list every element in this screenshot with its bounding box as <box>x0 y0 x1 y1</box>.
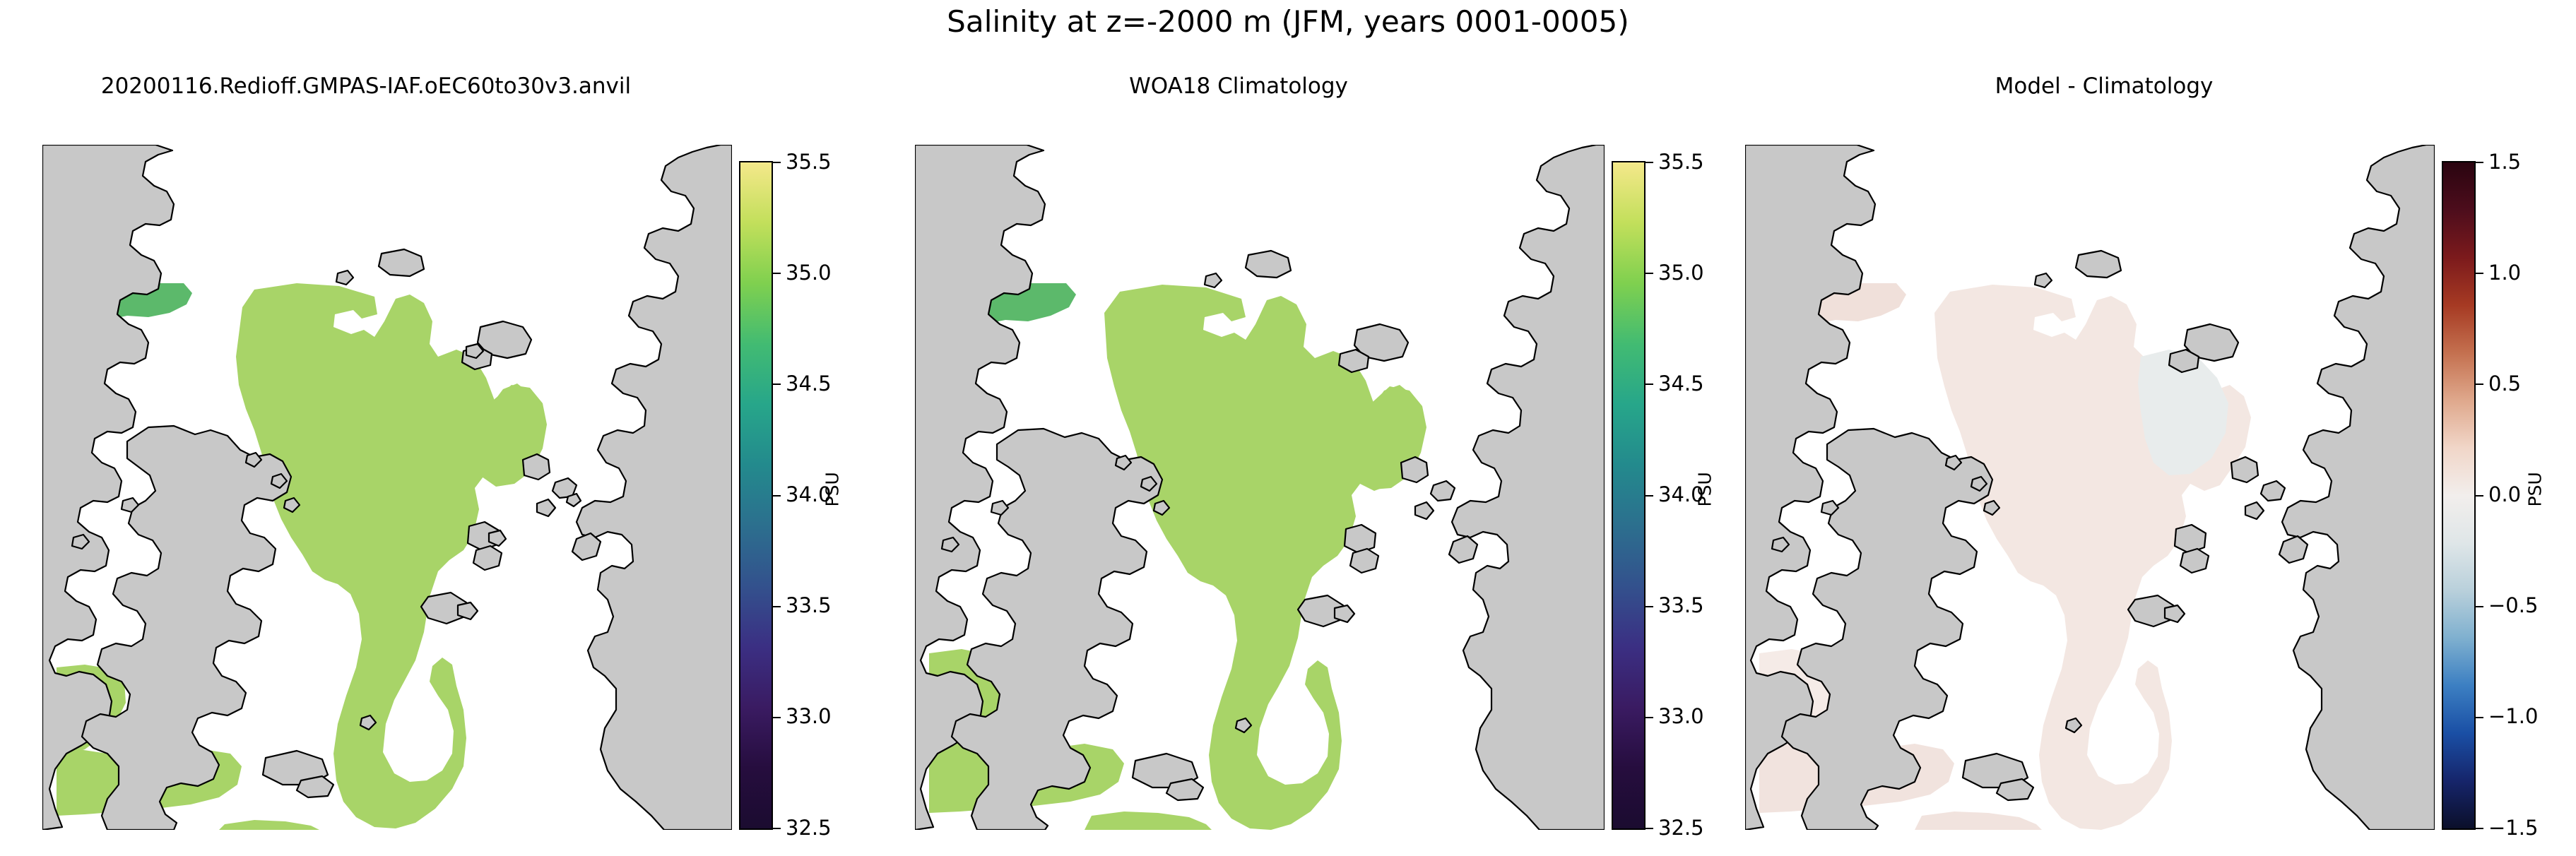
colorbar-tick-mark <box>1646 717 1653 718</box>
colorbar-tick-mark <box>1646 495 1653 497</box>
land-island-center-2 <box>2180 549 2209 573</box>
colorbar-tick-label: 33.0 <box>1658 706 1704 727</box>
colorbar-gradient-difference[interactable] <box>2442 161 2476 830</box>
colorbar-tick-label: 33.0 <box>786 706 832 727</box>
colorbar-tick-mark <box>773 495 781 497</box>
colorbar-gradient-climatology[interactable] <box>1612 161 1646 830</box>
map-svg-difference <box>1745 145 2435 830</box>
figure-suptitle: Salinity at z=-2000 m (JFM, years 0001-0… <box>0 4 2576 39</box>
land-island-east-1 <box>1401 457 1428 482</box>
colorbar-tick-mark <box>773 384 781 385</box>
colorbar-tick-label: 35.5 <box>786 152 832 172</box>
colorbar-tick-mark <box>2476 606 2483 607</box>
colorbar-difference: 1.51.00.50.0−0.5−1.0−1.5 PSU <box>2442 161 2560 830</box>
colorbar-tick-label: 35.0 <box>1658 263 1704 283</box>
colorbar-climatology: 35.535.034.534.033.533.032.5 PSU <box>1612 161 1730 830</box>
colorbar-tick-label: 1.5 <box>2488 152 2521 172</box>
land-island-center-2 <box>473 546 502 570</box>
colorbar-ticks-climatology: 35.535.034.534.033.533.032.5 <box>1646 161 1730 830</box>
map-svg-climatology <box>915 145 1605 830</box>
colorbar-tick-label: 35.0 <box>786 263 832 283</box>
colorbar-tick-mark <box>1646 162 1653 163</box>
colorbar-tick-mark <box>2476 162 2483 163</box>
colorbar-tick-mark <box>1646 828 1653 829</box>
colorbar-tick-label: 0.5 <box>2488 374 2521 394</box>
colorbar-tick-label: 34.5 <box>1658 374 1704 394</box>
colorbar-label-model: PSU <box>822 479 843 507</box>
colorbar-gradient-model[interactable] <box>739 161 773 830</box>
colorbar-tick-mark <box>773 273 781 274</box>
panel-title-climatology: WOA18 Climatology <box>873 73 1605 99</box>
colorbar-tick-mark <box>773 606 781 607</box>
panel-title-difference: Model - Climatology <box>1738 73 2470 99</box>
colorbar-tick-label: −0.5 <box>2488 595 2538 616</box>
colorbar-tick-label: 35.5 <box>1658 152 1704 172</box>
colorbar-ticks-model: 35.535.034.534.033.533.032.5 <box>773 161 858 830</box>
figure-canvas: Salinity at z=-2000 m (JFM, years 0001-0… <box>0 0 2576 856</box>
colorbar-tick-label: 33.5 <box>1658 595 1704 616</box>
colorbar-tick-label: 32.5 <box>786 818 832 838</box>
colorbar-tick-mark <box>2476 717 2483 718</box>
colorbar-tick-label: 1.0 <box>2488 263 2521 283</box>
colorbar-ticks-difference: 1.51.00.50.0−0.5−1.0−1.5 <box>2476 161 2560 830</box>
map-svg-model <box>42 145 732 830</box>
land-island-center-2 <box>1350 549 1378 573</box>
colorbar-tick-mark <box>2476 828 2483 829</box>
panel-title-model: 20200116.Redioff.GMPAS-IAF.oEC60to30v3.a… <box>0 73 732 99</box>
colorbar-tick-mark <box>1646 384 1653 385</box>
colorbar-tick-label: 0.0 <box>2488 485 2521 505</box>
map-climatology[interactable] <box>915 145 1605 830</box>
colorbar-tick-mark <box>2476 273 2483 274</box>
colorbar-label-climatology: PSU <box>1695 479 1715 507</box>
colorbar-tick-mark <box>1646 606 1653 607</box>
colorbar-tick-label: 34.5 <box>786 374 832 394</box>
land-island-east-1 <box>523 454 550 480</box>
colorbar-tick-mark <box>773 828 781 829</box>
colorbar-tick-label: 32.5 <box>1658 818 1704 838</box>
land-island-east-1 <box>2231 457 2258 482</box>
colorbar-tick-mark <box>1646 273 1653 274</box>
colorbar-tick-mark <box>2476 384 2483 385</box>
colorbar-tick-mark <box>2476 495 2483 497</box>
colorbar-model: 35.535.034.534.033.533.032.5 PSU <box>739 161 858 830</box>
colorbar-tick-label: −1.0 <box>2488 706 2538 727</box>
map-difference[interactable] <box>1745 145 2435 830</box>
colorbar-tick-label: −1.5 <box>2488 818 2538 838</box>
colorbar-tick-mark <box>773 162 781 163</box>
colorbar-tick-label: 33.5 <box>786 595 832 616</box>
colorbar-tick-mark <box>773 717 781 718</box>
map-model[interactable] <box>42 145 732 830</box>
colorbar-label-difference: PSU <box>2525 479 2546 507</box>
